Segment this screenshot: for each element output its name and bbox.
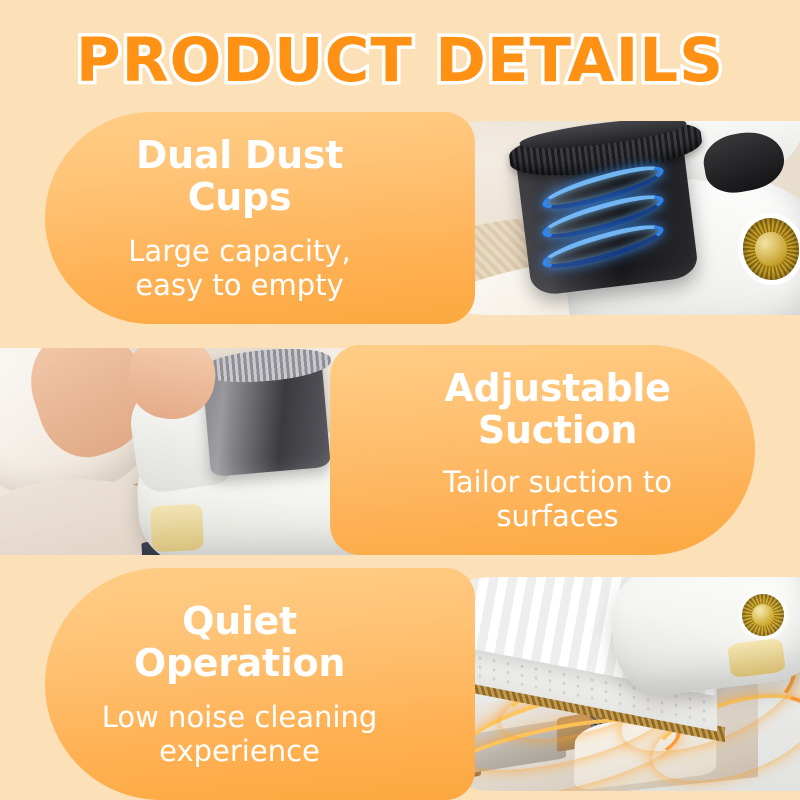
feature-section-quiet-operation: Quiet Operation Low noise cleaning exper…	[0, 568, 800, 800]
feature-text-block: Quiet Operation Low noise cleaning exper…	[45, 568, 475, 800]
page-title-container: PRODUCT DETAILS	[0, 28, 800, 94]
feature-section-adjustable-suction: Adjustable Suction Tailor suction to sur…	[0, 345, 800, 555]
feature-pill-quiet-operation: Quiet Operation Low noise cleaning exper…	[45, 568, 475, 800]
feature-pill-adjustable-suction: Adjustable Suction Tailor suction to sur…	[330, 345, 755, 555]
feature-text-block: Adjustable Suction Tailor suction to sur…	[330, 345, 755, 555]
feature-text-block: Dual Dust Cups Large capacity, easy to e…	[45, 112, 475, 324]
feature-heading: Adjustable Suction	[444, 367, 670, 451]
feature-subtext: Tailor suction to surfaces	[443, 465, 672, 533]
feature-section-dual-dust-cups: Dual Dust Cups Large capacity, easy to e…	[0, 112, 800, 324]
gold-wheel-icon	[742, 594, 784, 636]
gold-front-pad	[149, 504, 203, 552]
feature-pill-dual-dust-cups: Dual Dust Cups Large capacity, easy to e…	[45, 112, 475, 324]
feature-subtext: Large capacity, easy to empty	[128, 234, 350, 302]
feature-subtext: Low noise cleaning experience	[102, 700, 378, 768]
feature-heading: Dual Dust Cups	[136, 134, 343, 218]
product-details-page: PRODUCT DETAILS Dual Dust C	[0, 0, 800, 800]
page-title: PRODUCT DETAILS	[76, 28, 724, 94]
feature-heading: Quiet Operation	[134, 600, 345, 684]
